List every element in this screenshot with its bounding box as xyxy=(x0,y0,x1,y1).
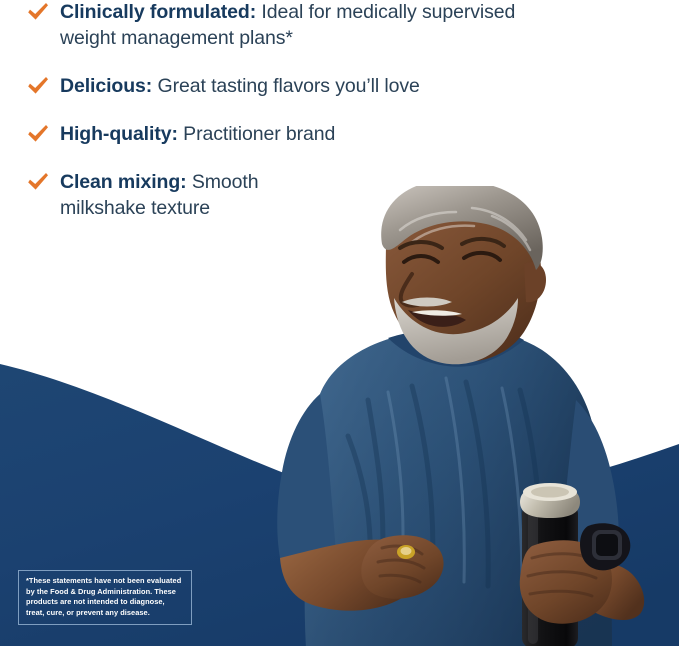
promo-panel: Clinically formulated: Ideal for medical… xyxy=(0,0,679,646)
smartwatch xyxy=(580,523,630,570)
hero-photo xyxy=(236,186,679,646)
benefits-list: Clinically formulated: Ideal for medical… xyxy=(0,0,560,244)
person-figure xyxy=(277,186,644,646)
list-item: High-quality: Practitioner brand xyxy=(0,122,560,148)
list-item: Clinically formulated: Ideal for medical… xyxy=(0,0,560,52)
check-icon xyxy=(26,171,50,193)
benefit-description: Great tasting flavors you’ll love xyxy=(152,75,420,97)
benefit-term: Clinically formulated: xyxy=(60,1,256,23)
benefit-text: Delicious: Great tasting flavors you’ll … xyxy=(60,74,420,100)
fda-disclaimer: *These statements have not been evaluate… xyxy=(18,570,192,625)
disclaimer-text: *These statements have not been evaluate… xyxy=(26,576,184,618)
benefit-term: Delicious: xyxy=(60,75,152,97)
ear xyxy=(524,262,546,302)
benefit-text: Clean mixing: Smooth milkshake texture xyxy=(60,170,322,222)
check-icon xyxy=(26,1,50,23)
benefit-text: Clinically formulated: Ideal for medical… xyxy=(60,0,560,52)
list-item: Delicious: Great tasting flavors you’ll … xyxy=(0,74,560,100)
benefit-text: High-quality: Practitioner brand xyxy=(60,122,335,148)
benefit-term: High-quality: xyxy=(60,123,178,145)
benefit-description: Practitioner brand xyxy=(178,123,335,145)
check-icon xyxy=(26,123,50,145)
list-item: Clean mixing: Smooth milkshake texture xyxy=(0,170,560,222)
benefit-term: Clean mixing: xyxy=(60,171,187,193)
check-icon xyxy=(26,75,50,97)
